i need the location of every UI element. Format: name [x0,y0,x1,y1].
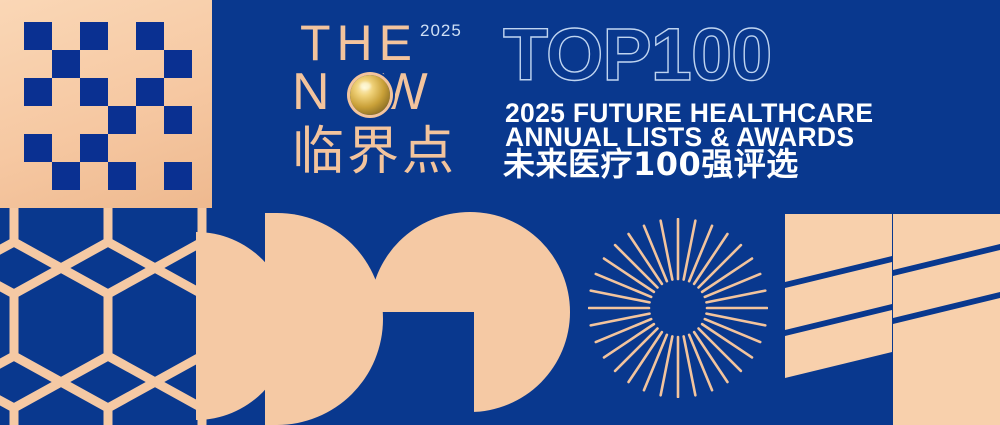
checker-cell-0-1 [52,22,80,50]
top100-wordmark: TOP100 [503,18,771,92]
checker-cell-5-4 [136,162,164,190]
checker-cell-1-4 [136,50,164,78]
checker-cell-1-5 [164,50,192,78]
logo-year-superscript: 2025 [420,22,462,39]
hexagon-lattice-panel [0,208,212,425]
checker-cell-3-4 [136,106,164,134]
logo-chinese-title: 临界点 [292,126,457,178]
checker-cell-0-4 [136,22,164,50]
checker-cell-5-2 [80,162,108,190]
notched-circle-shape [370,212,570,412]
checker-cell-0-0 [24,22,52,50]
half-circle-shape [265,213,383,425]
checker-cell-5-5 [164,162,192,190]
checkerboard-panel [0,0,212,208]
checker-cell-1-3 [108,50,136,78]
checker-cell-1-1 [52,50,80,78]
checker-cell-3-3 [108,106,136,134]
awards-banner: THE 2025 NW 临界点 TOP100 2025 FUTURE HEALT… [0,0,1000,425]
gold-orb-icon [350,75,390,115]
lens-leaf-shape [190,232,270,420]
checker-cell-2-4 [136,78,164,106]
logo-word-the: THE [300,18,418,68]
logo-now-letter-n: N [292,63,335,121]
checker-cell-5-1 [52,162,80,190]
checker-cell-4-4 [136,134,164,162]
checker-cell-4-5 [164,134,192,162]
checker-cell-4-3 [108,134,136,162]
checker-cell-2-1 [52,78,80,106]
checker-cell-3-0 [24,106,52,134]
checker-cell-1-2 [80,50,108,78]
checker-cell-5-3 [108,162,136,190]
checker-cell-3-1 [52,106,80,134]
checker-cell-2-5 [164,78,192,106]
checker-cell-3-5 [164,106,192,134]
checkerboard-pattern [24,22,192,190]
checker-cell-2-3 [108,78,136,106]
checker-cell-4-1 [52,134,80,162]
checker-cell-2-2 [80,78,108,106]
checker-cell-4-2 [80,134,108,162]
checker-cell-3-2 [80,106,108,134]
diagonal-stripes-right [893,208,1000,425]
checker-cell-5-0 [24,162,52,190]
checker-cell-1-0 [24,50,52,78]
subtitle-cn: 未来医疗100强评选 [503,148,799,180]
checker-cell-4-0 [24,134,52,162]
checker-cell-0-3 [108,22,136,50]
the-now-logo: THE 2025 NW 临界点 [292,18,487,190]
checker-cell-0-5 [164,22,192,50]
diagonal-stripes-left [785,208,892,425]
checker-cell-2-0 [24,78,52,106]
hexagon-lattice-pattern [0,208,212,425]
sunburst-rays [588,218,768,398]
checker-cell-0-2 [80,22,108,50]
